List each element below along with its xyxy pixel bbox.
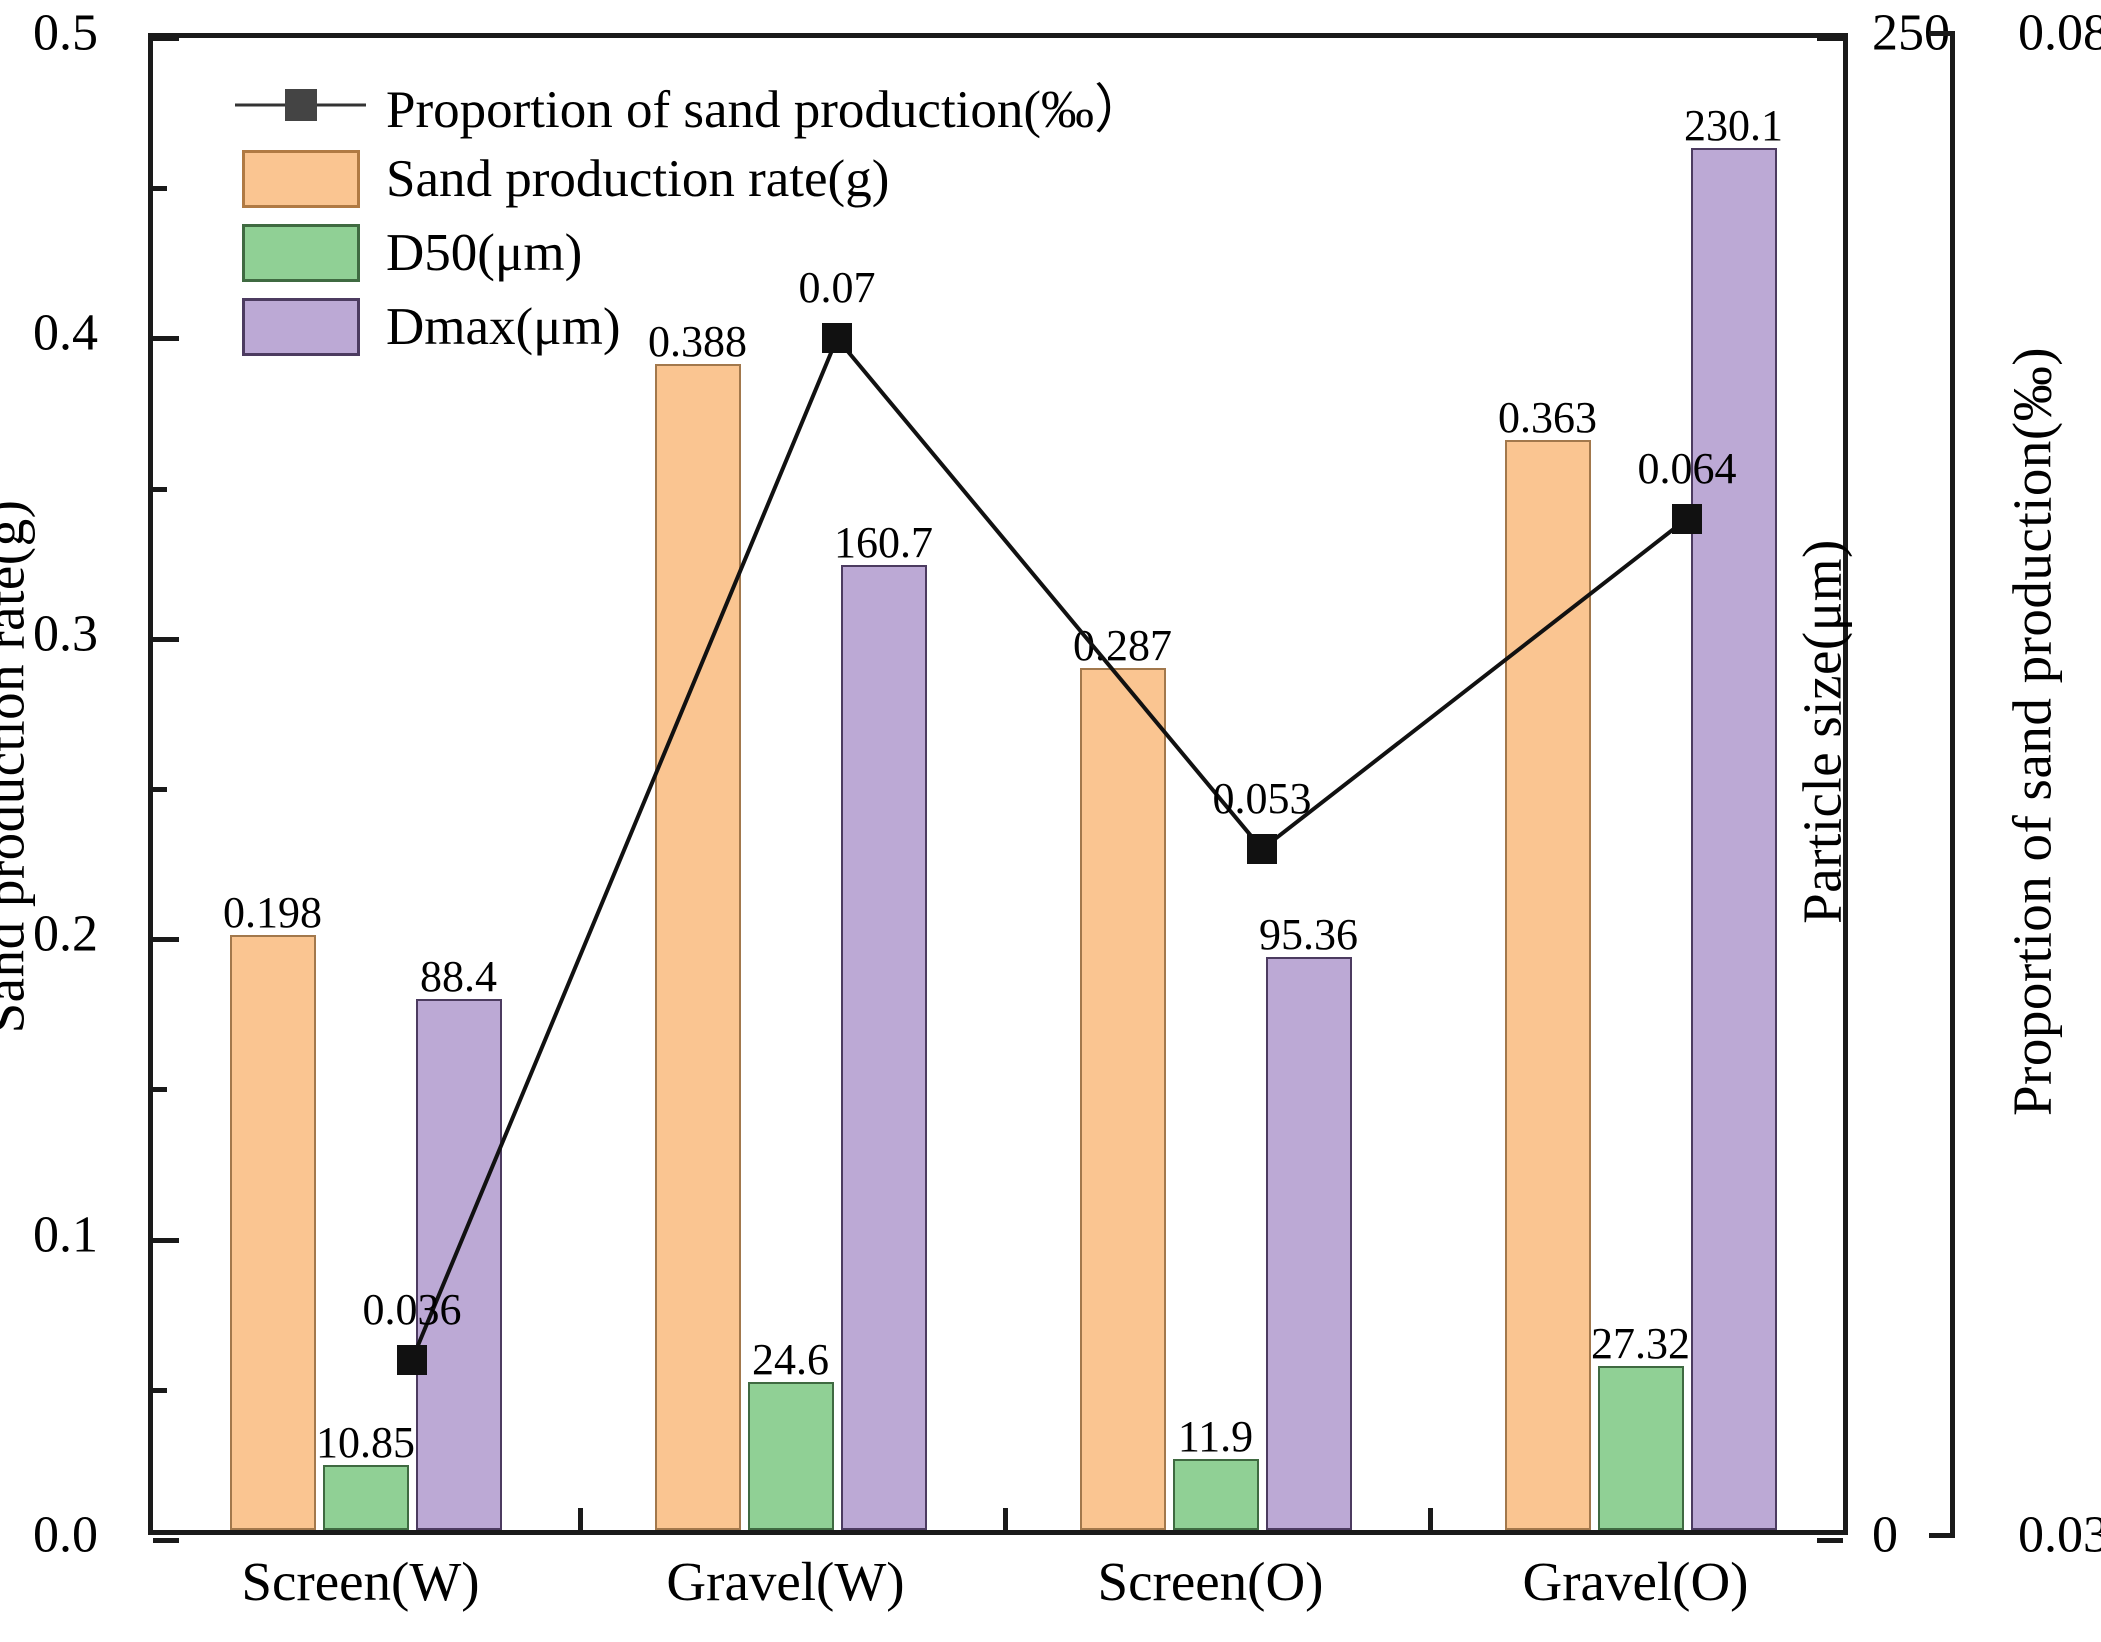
legend-item-label: D50(μm) bbox=[386, 223, 582, 283]
y-tick-label-left: 0.0 bbox=[33, 1506, 98, 1565]
chart-legend: Proportion of sand production(‰）Sand pro… bbox=[233, 68, 1147, 364]
x-category-label-gravelo: Gravel(O) bbox=[1523, 1550, 1749, 1613]
particle-size-axis-ticks: 0250 bbox=[1858, 33, 2008, 1535]
y-tick-label-proportion: 0.08 bbox=[2018, 4, 2101, 63]
y-tick-label-left: 0.2 bbox=[33, 905, 98, 964]
legend-item-label: Proportion of sand production(‰） bbox=[386, 67, 1147, 143]
chart-figure: Sand production rate(g) 0.00.10.20.30.40… bbox=[0, 0, 2101, 1642]
y-tick-label-left: 0.3 bbox=[33, 604, 98, 663]
legend-color-swatch-icon bbox=[242, 298, 360, 356]
x-category-label-screeno: Screen(O) bbox=[1098, 1550, 1324, 1613]
proportion-axis-title: Proportion of sand production(‰) bbox=[2001, 182, 2064, 1282]
line-value-label: 0.064 bbox=[1638, 443, 1737, 494]
line-marker-icon bbox=[233, 76, 368, 134]
legend-item-label: Dmax(μm) bbox=[386, 297, 620, 357]
line-marker-screenw bbox=[397, 1345, 427, 1375]
tick-mark bbox=[1929, 1533, 1955, 1538]
legend-key bbox=[233, 298, 368, 356]
y-axis-left-ticks: 0.00.10.20.30.40.5 bbox=[0, 33, 120, 1535]
y-tick-label-left: 0.5 bbox=[33, 4, 98, 63]
legend-color-swatch-icon bbox=[242, 224, 360, 282]
y-tick-label-particle-size: 0 bbox=[1872, 1506, 1898, 1565]
tick-mark bbox=[1817, 1538, 1843, 1543]
legend-key bbox=[233, 224, 368, 282]
legend-color-swatch-icon bbox=[242, 150, 360, 208]
y-tick-label-proportion: 0.03 bbox=[2018, 1506, 2101, 1565]
legend-key bbox=[233, 76, 368, 134]
legend-item[interactable]: Proportion of sand production(‰） bbox=[233, 68, 1147, 142]
legend-item[interactable]: Dmax(μm) bbox=[233, 290, 1147, 364]
line-marker-gravelo bbox=[1672, 504, 1702, 534]
tick-mark bbox=[1929, 31, 1955, 36]
legend-item-label: Sand production rate(g) bbox=[386, 149, 889, 209]
legend-item[interactable]: D50(μm) bbox=[233, 216, 1147, 290]
line-value-label: 0.053 bbox=[1213, 773, 1312, 824]
y-tick-label-left: 0.1 bbox=[33, 1205, 98, 1264]
plot-area: 0.19810.8588.40.38824.6160.70.28711.995.… bbox=[148, 33, 1848, 1535]
line-marker-screeno bbox=[1247, 834, 1277, 864]
proportion-axis-spine bbox=[1950, 33, 1955, 1535]
x-category-label-screenw: Screen(W) bbox=[241, 1550, 479, 1613]
line-value-label: 0.036 bbox=[363, 1284, 462, 1335]
tick-mark bbox=[153, 1538, 179, 1543]
legend-item[interactable]: Sand production rate(g) bbox=[233, 142, 1147, 216]
legend-square-marker-icon bbox=[285, 89, 317, 121]
legend-key bbox=[233, 150, 368, 208]
y-tick-label-left: 0.4 bbox=[33, 304, 98, 363]
x-category-label-gravelw: Gravel(W) bbox=[666, 1550, 904, 1613]
